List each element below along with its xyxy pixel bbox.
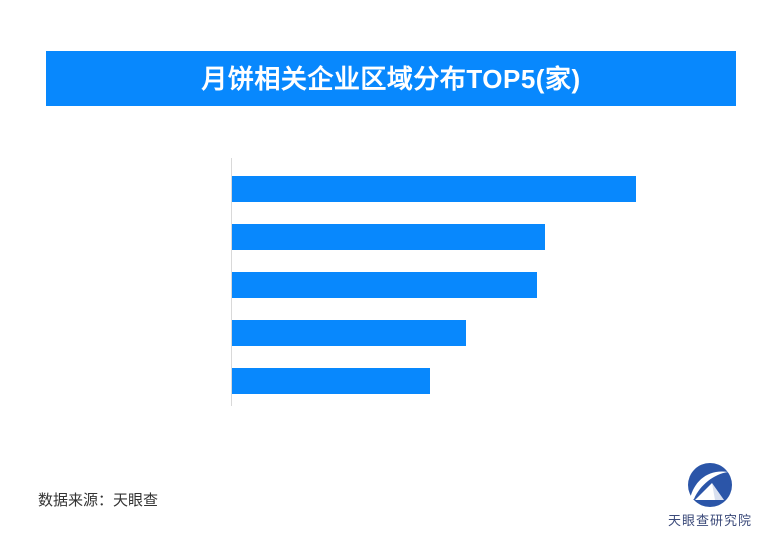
bar-track <box>232 176 636 202</box>
bar-value-3[interactable] <box>232 320 466 346</box>
bar-track <box>232 368 430 394</box>
bar-track <box>232 320 466 346</box>
bar-value-4[interactable] <box>232 368 430 394</box>
brand-logo-text: 天眼查研究院 <box>648 510 772 529</box>
page-title: 月饼相关企业区域分布TOP5(家) <box>201 66 580 92</box>
infographic-canvas: 月饼相关企业区域分布TOP5(家) 广东省 广西壮族自治区 河南省 山西省 <box>0 0 783 544</box>
bar-value-1[interactable] <box>232 224 545 250</box>
chart-plot-area: 广东省 广西壮族自治区 河南省 山西省 陕西省 <box>0 150 783 405</box>
bar-value-0[interactable] <box>232 176 636 202</box>
title-banner: 月饼相关企业区域分布TOP5(家) <box>46 51 736 106</box>
bar-track <box>232 272 537 298</box>
brand-logo: 天眼查研究院 <box>648 463 772 529</box>
bar-value-2[interactable] <box>232 272 537 298</box>
bar-track <box>232 224 545 250</box>
data-source-note: 数据来源：天眼查 <box>38 489 158 510</box>
tianyancha-eye-icon <box>684 463 736 507</box>
